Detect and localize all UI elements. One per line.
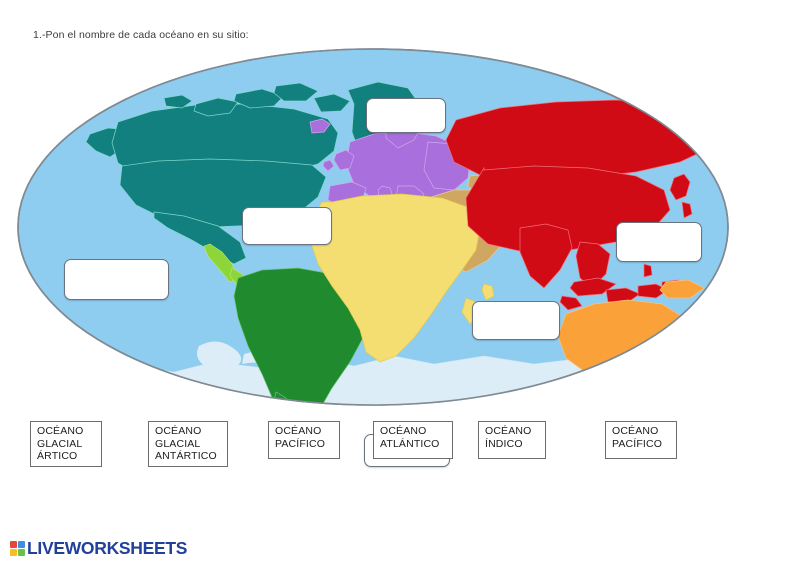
answer-box-pacific-west[interactable]	[616, 222, 702, 262]
answer-box-indian[interactable]	[472, 301, 560, 340]
answer-input-pacific-west[interactable]	[617, 223, 701, 261]
word-bank-item[interactable]: OCÉANO PACÍFICO	[268, 421, 340, 459]
word-bank-item[interactable]: OCÉANO GLACIAL ANTÁRTICO	[148, 421, 228, 467]
word-bank-item[interactable]: OCÉANO ÍNDICO	[478, 421, 546, 459]
word-bank-item[interactable]: OCÉANO GLACIAL ÁRTICO	[30, 421, 102, 467]
liveworksheets-mark-icon	[10, 541, 25, 556]
world-map-container	[14, 46, 732, 408]
page-title: 1.-Pon el nombre de cada océano en su si…	[33, 29, 249, 41]
answer-input-arctic[interactable]	[367, 99, 445, 132]
liveworksheets-wordmark: LIVEWORKSHEETS	[27, 538, 187, 559]
answer-box-pacific-east[interactable]	[64, 259, 169, 300]
answer-input-north-atlantic[interactable]	[243, 208, 331, 244]
word-bank-item[interactable]: OCÉANO PACÍFICO	[605, 421, 677, 459]
footer-logo[interactable]: LIVEWORKSHEETS	[10, 538, 187, 559]
answer-input-indian[interactable]	[473, 302, 559, 339]
mark-swatch-green	[18, 549, 25, 556]
answer-box-north-atlantic[interactable]	[242, 207, 332, 245]
mark-swatch-red	[10, 541, 17, 548]
word-bank: OCÉANO GLACIAL ÁRTICOOCÉANO GLACIAL ANTÁ…	[0, 419, 800, 479]
worksheet-page: 1.-Pon el nombre de cada océano en su si…	[0, 0, 800, 565]
word-bank-item[interactable]: OCÉANO ATLÁNTICO	[373, 421, 453, 459]
answer-box-arctic[interactable]	[366, 98, 446, 133]
mark-swatch-yellow	[10, 549, 17, 556]
mark-swatch-blue	[18, 541, 25, 548]
answer-input-pacific-east[interactable]	[65, 260, 168, 299]
